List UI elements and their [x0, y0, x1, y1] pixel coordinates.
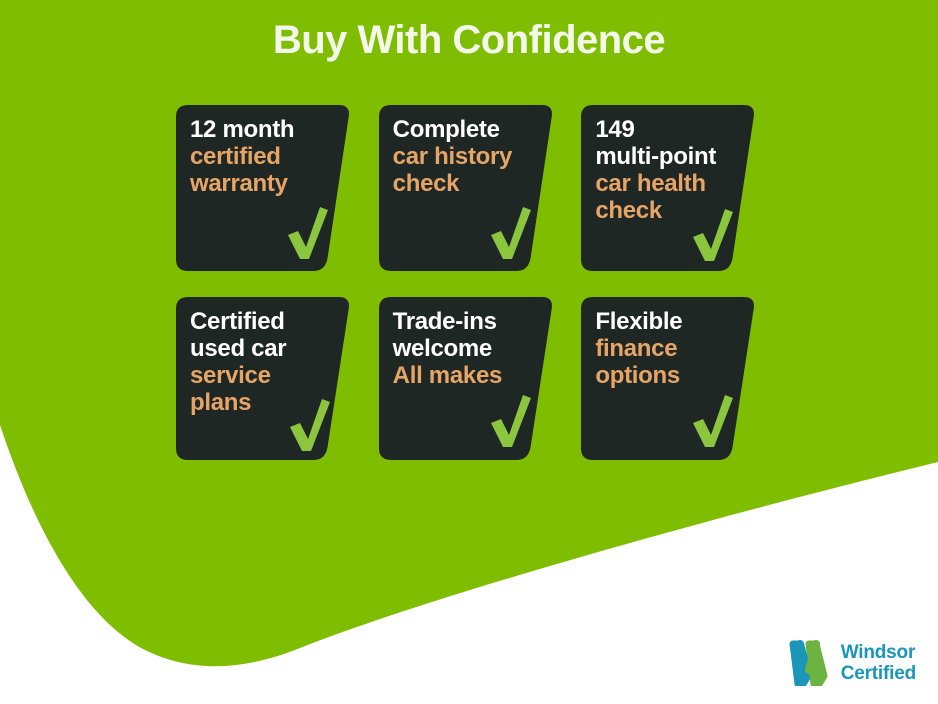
benefits-grid: 12 month certified warranty Complete car… [176, 105, 756, 486]
card-line: 12 month [190, 117, 325, 144]
card-line: finance [595, 336, 730, 363]
card-text-block: 12 month certified warranty [190, 117, 325, 198]
card-line: service [190, 363, 325, 390]
check-mark-icon [689, 207, 735, 263]
card-text-block: Complete car history check [393, 117, 528, 198]
card-line: Certified [190, 309, 325, 336]
card-text-block: Trade-ins welcome All makes [393, 309, 528, 390]
benefit-card-multi-point-health-check[interactable]: 149 multi-point car health check [581, 105, 756, 271]
card-line: options [595, 363, 730, 390]
benefit-card-trade-ins[interactable]: Trade-ins welcome All makes [379, 297, 554, 460]
card-text-block: Flexible finance options [595, 309, 730, 390]
card-line: used car [190, 336, 325, 363]
card-line: All makes [393, 363, 528, 390]
card-line: Trade-ins [393, 309, 528, 336]
card-line: Complete [393, 117, 528, 144]
logo-line-2: Certified [841, 663, 916, 684]
benefits-row-2: Certified used car service plans Trade-i… [176, 297, 756, 460]
card-line: Flexible [595, 309, 730, 336]
card-line: check [393, 171, 528, 198]
windsor-w-icon [788, 640, 832, 686]
windsor-certified-logo[interactable]: Windsor Certified [788, 640, 916, 686]
card-line: car health [595, 171, 730, 198]
card-line: certified [190, 144, 325, 171]
check-mark-icon [487, 393, 533, 449]
benefit-card-car-history-check[interactable]: Complete car history check [379, 105, 554, 271]
benefits-row-1: 12 month certified warranty Complete car… [176, 105, 756, 271]
benefit-card-flexible-finance[interactable]: Flexible finance options [581, 297, 756, 460]
page-title: Buy With Confidence [0, 18, 938, 63]
logo-line-1: Windsor [841, 642, 916, 663]
card-line: welcome [393, 336, 528, 363]
benefit-card-service-plans[interactable]: Certified used car service plans [176, 297, 351, 460]
check-mark-icon [286, 397, 332, 453]
check-mark-icon [487, 205, 533, 261]
card-line: car history [393, 144, 528, 171]
card-line: 149 [595, 117, 730, 144]
logo-wordmark: Windsor Certified [841, 642, 916, 685]
check-mark-icon [689, 393, 735, 449]
card-line: warranty [190, 171, 325, 198]
card-line: multi-point [595, 144, 730, 171]
benefit-card-certified-warranty[interactable]: 12 month certified warranty [176, 105, 351, 271]
check-mark-icon [284, 205, 330, 261]
poster: Buy With Confidence 12 month certified w… [0, 0, 938, 704]
